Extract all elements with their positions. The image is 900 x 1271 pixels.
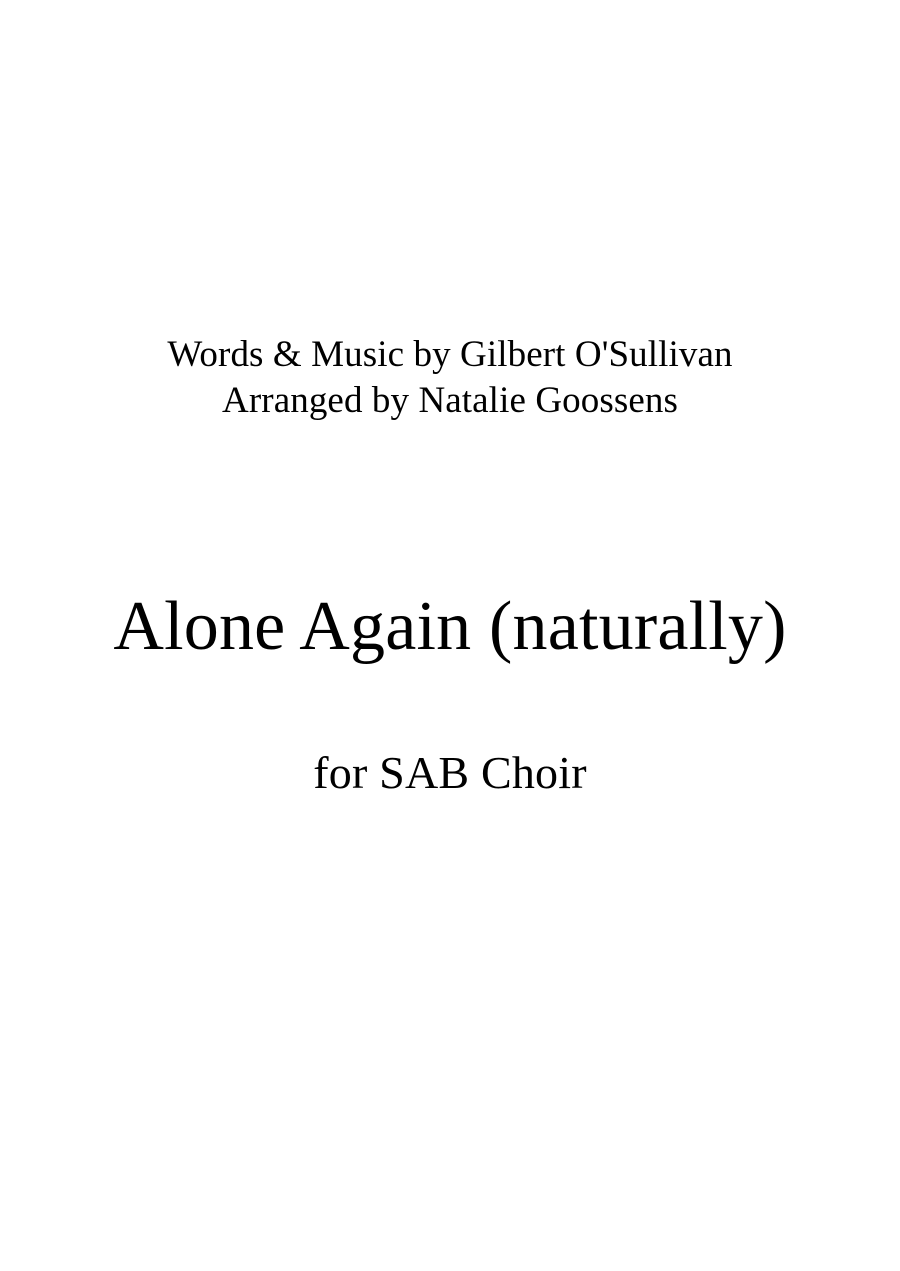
credit-line-composer: Words & Music by Gilbert O'Sullivan <box>0 332 900 378</box>
page-title: Alone Again (naturally) <box>0 588 900 666</box>
page-subtitle: for SAB Choir <box>0 746 900 800</box>
credit-line-arranger: Arranged by Natalie Goossens <box>0 378 900 424</box>
sheet-music-title-page: Words & Music by Gilbert O'Sullivan Arra… <box>0 0 900 1271</box>
credits-block: Words & Music by Gilbert O'Sullivan Arra… <box>0 332 900 424</box>
